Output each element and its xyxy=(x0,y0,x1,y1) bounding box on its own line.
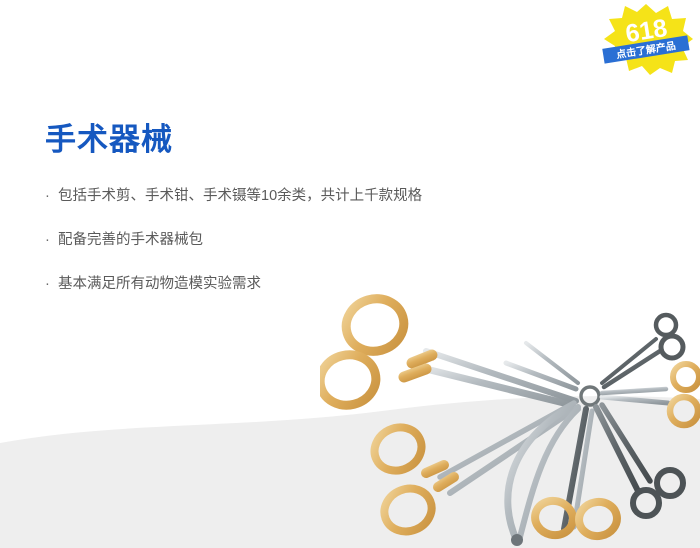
promo-badge-618[interactable]: 618 点击了解产品 xyxy=(598,2,694,76)
feature-item-label: 包括手术剪、手术钳、手术镊等10余类，共计上千款规格 xyxy=(58,188,422,204)
bullet-dot-icon: · xyxy=(45,274,50,294)
page-title: 手术器械 xyxy=(45,122,173,158)
bullet-dot-icon: · xyxy=(45,230,50,250)
feature-item: · 包括手术剪、手术钳、手术镊等10余类，共计上千款规格 xyxy=(45,186,565,206)
feature-list: · 包括手术剪、手术钳、手术镊等10余类，共计上千款规格 · 配备完善的手术器械… xyxy=(45,186,565,294)
feature-item-label: 配备完善的手术器械包 xyxy=(58,232,203,248)
feature-item: · 基本满足所有动物造模实验需求 xyxy=(45,274,565,294)
bullet-dot-icon: · xyxy=(45,186,50,206)
feature-item-label: 基本满足所有动物造模实验需求 xyxy=(58,276,261,292)
product-feature-panel: 618 点击了解产品 手术器械 · 包括手术剪、手术钳、手术镊等10余类，共计上… xyxy=(0,0,700,548)
instrument-hemostat-forceps-dark xyxy=(596,405,683,516)
pivot-ring-icon xyxy=(581,387,599,405)
surgical-instruments-image xyxy=(320,255,700,548)
feature-item: · 配备完善的手术器械包 xyxy=(45,230,565,250)
